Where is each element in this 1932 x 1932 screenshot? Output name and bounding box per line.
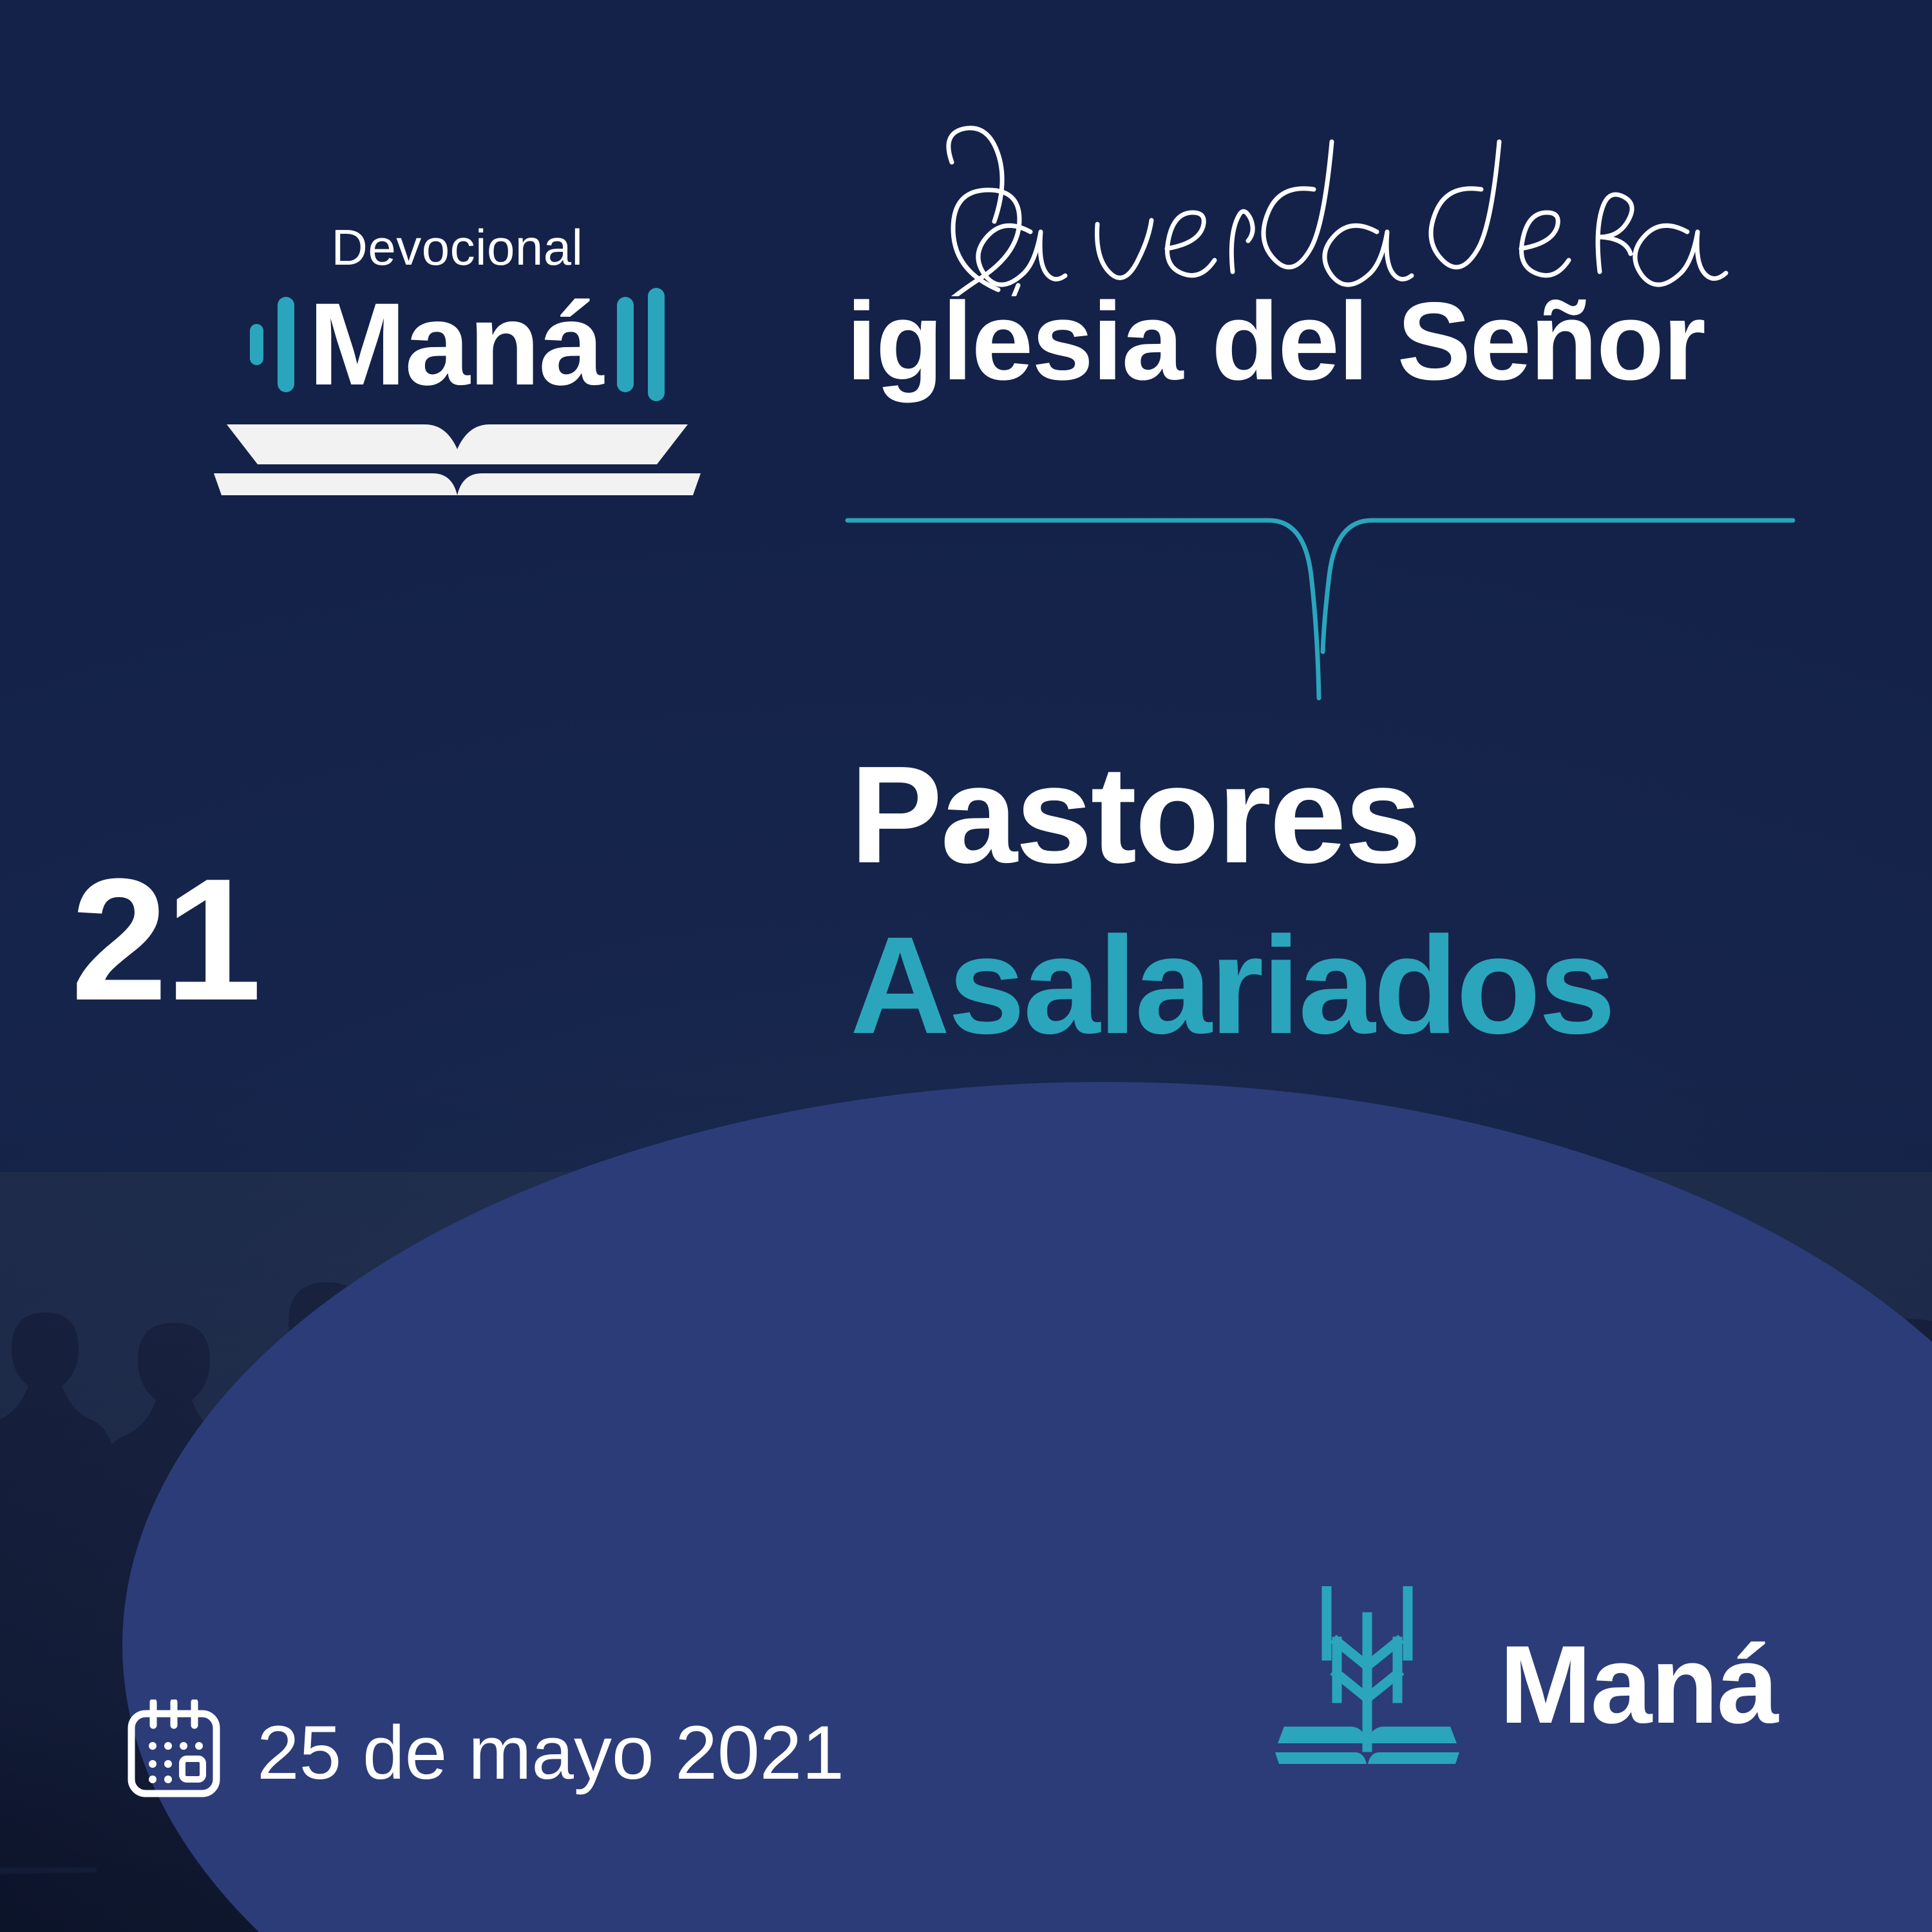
equalizer-bar-medium-icon <box>278 297 294 392</box>
date-row: 25 de mayo 2021 <box>126 1700 844 1806</box>
main-title: Pastores Asalariados <box>850 744 1893 1056</box>
calendar-icon <box>126 1700 222 1806</box>
main-title-line-1: Pastores <box>850 744 1893 885</box>
footer-mana-logo: Maná <box>1274 1586 1777 1783</box>
headline-bold-line: iglesia del Señor <box>846 286 1868 397</box>
headline-script-line <box>837 122 1868 290</box>
devotional-poster: Devocional Maná <box>0 0 1932 1932</box>
equalizer-bar-medium-right-icon <box>617 297 634 392</box>
footer-logo-wordmark: Maná <box>1499 1629 1777 1740</box>
brand-wordmark: Maná <box>308 292 603 397</box>
equalizer-bar-small-icon <box>250 324 263 365</box>
brand-kicker: Devocional <box>213 222 702 272</box>
curly-brace-divider-icon <box>844 509 1797 702</box>
brand-wordmark-row: Maná <box>213 288 702 401</box>
series-headline: iglesia del Señor <box>837 122 1868 397</box>
open-book-icon <box>213 418 702 515</box>
equalizer-bar-large-icon <box>648 288 665 401</box>
main-title-line-2: Asalariados <box>850 914 1893 1056</box>
wheat-over-book-icon <box>1274 1586 1461 1783</box>
date-text: 25 de mayo 2021 <box>257 1715 844 1791</box>
devocional-mana-logo: Devocional Maná <box>213 222 702 515</box>
day-number: 21 <box>71 853 259 1027</box>
